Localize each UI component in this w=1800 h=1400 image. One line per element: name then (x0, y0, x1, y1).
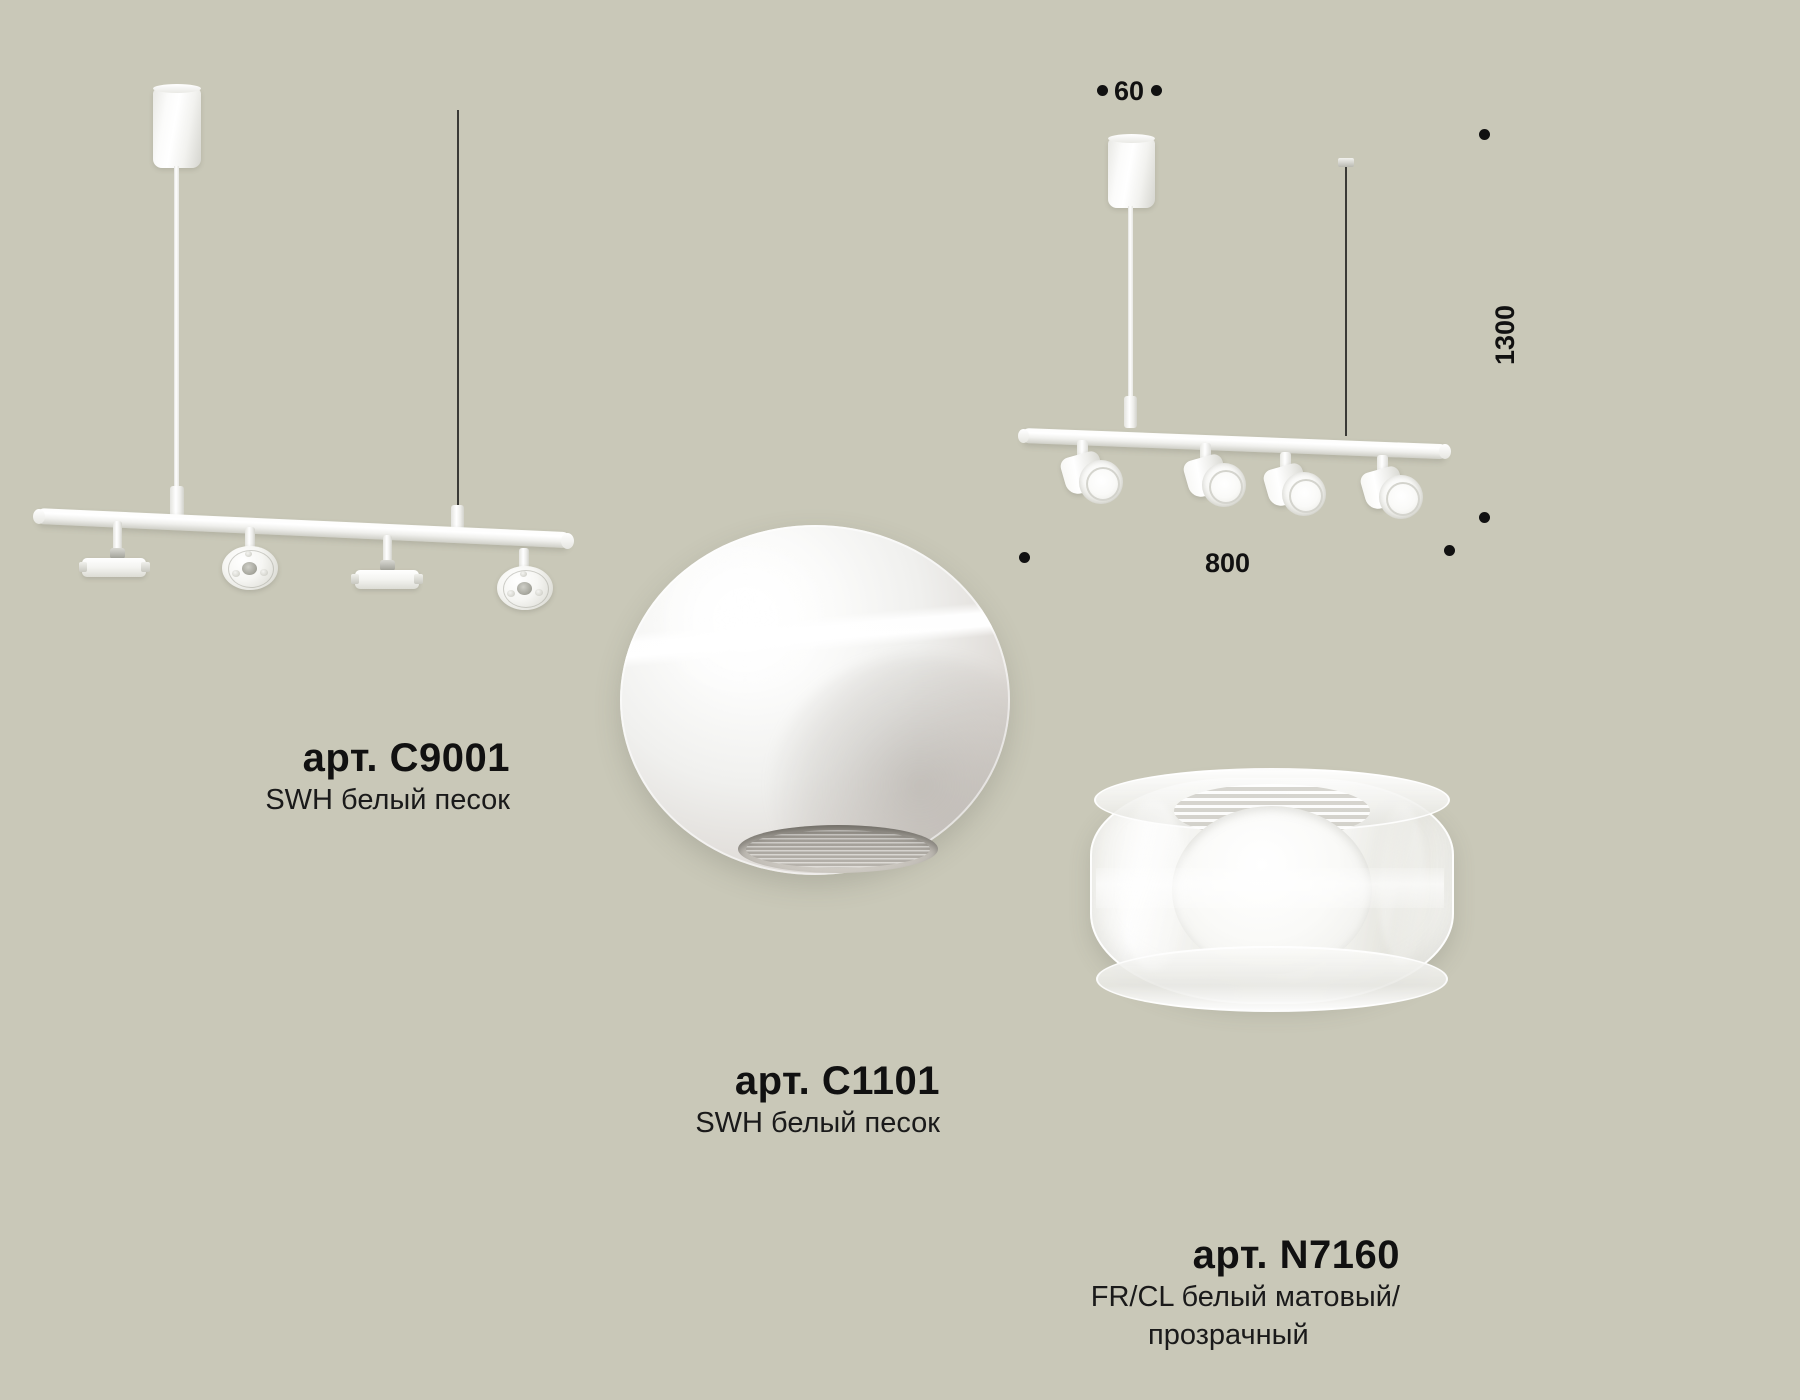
track-bar-end-cap-left (33, 509, 45, 524)
finish-name-c1101: SWH белый песок (540, 1104, 940, 1142)
product-image-n7160 (1090, 760, 1460, 1020)
bar-mount-stem-dim-left (1124, 396, 1137, 428)
dimension-1300-value: 1300 (1490, 305, 1521, 365)
suspension-cord-dim-left (1128, 206, 1133, 400)
dimension-800-dot-left (1019, 552, 1030, 563)
canopy-top-dim (1108, 134, 1155, 143)
product-sheet-canvas: арт. C9001 SWH белый песок (0, 0, 1800, 1400)
suspension-cord-dim-right (1345, 166, 1347, 436)
track-bar-dim-cap-left (1018, 429, 1029, 443)
suspension-cord-left (174, 166, 179, 492)
finish-name-n7160-line2: прозрачный (1000, 1316, 1400, 1354)
dimension-1300-dot-bottom (1479, 512, 1490, 523)
article-code-c1101: арт. C1101 (540, 1058, 940, 1104)
product-image-c1101 (620, 525, 1020, 895)
track-bar-dim-cap-right (1439, 444, 1451, 459)
track-bar-end-cap-right (561, 533, 574, 549)
article-code-c9001: арт. C9001 (60, 735, 510, 781)
dimension-1300-dot-top (1479, 129, 1490, 140)
label-c1101: арт. C1101 SWH белый песок (540, 1058, 940, 1142)
suspension-cord-right (457, 110, 459, 510)
dimension-60-dot-right (1151, 85, 1162, 96)
label-c9001: арт. C9001 SWH белый песок (60, 735, 510, 819)
dimension-800-value: 800 (1205, 548, 1250, 579)
canopy-top-left (153, 84, 201, 93)
label-n7160: арт. N7160 FR/CL белый матовый/ прозрачн… (1000, 1232, 1400, 1355)
article-code-n7160: арт. N7160 (1000, 1232, 1400, 1278)
dimension-800-dot-right (1444, 545, 1455, 556)
finish-name-c9001: SWH белый песок (60, 781, 510, 819)
dimension-60-value: 60 (1114, 76, 1144, 107)
n7160-gloss-highlight (1118, 800, 1188, 970)
dimension-60-dot-left (1097, 85, 1108, 96)
finish-name-n7160-line1: FR/CL белый матовый/ (1000, 1278, 1400, 1316)
canopy-cylinder-left (153, 88, 201, 168)
sphere-rim (620, 525, 1010, 875)
cord-bracket-dim-right (1338, 158, 1354, 167)
sphere-opening-threads (746, 830, 930, 868)
canopy-cylinder-dim (1108, 138, 1155, 208)
n7160-gloss-highlight-right (1378, 804, 1426, 964)
